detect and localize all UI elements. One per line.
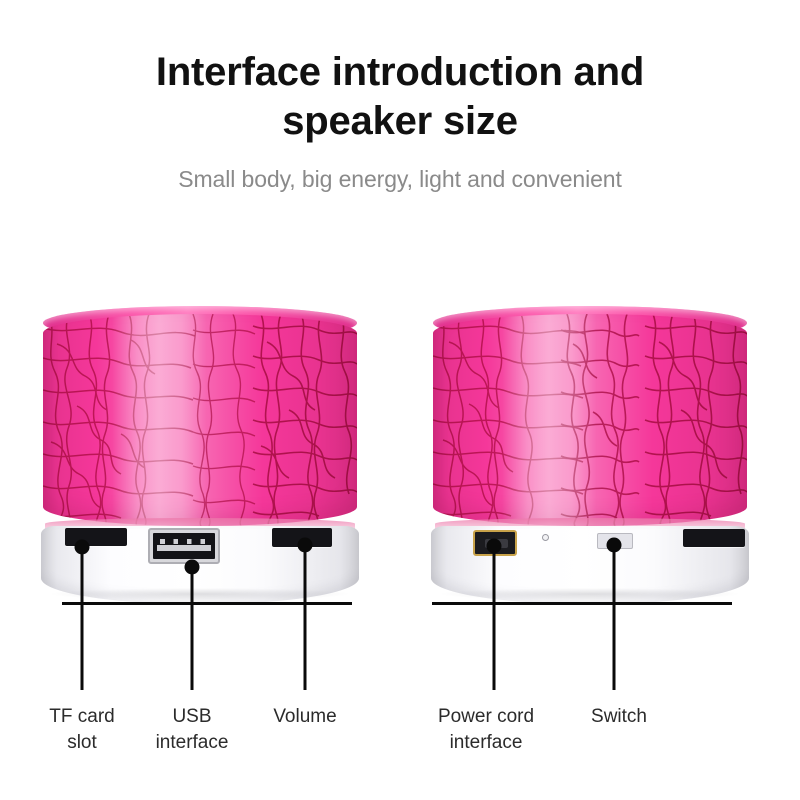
label-switch: Switch: [539, 704, 699, 730]
usb-port-cavity: [153, 533, 215, 559]
usb-interface-port[interactable]: [148, 528, 220, 564]
indicator-led: [542, 534, 549, 541]
base-width-line-right: [432, 602, 732, 605]
leader-line-usb-interface: [191, 567, 194, 690]
speaker-front-view: [35, 300, 365, 605]
leader-line-power-cord-interface: [493, 546, 496, 690]
speaker-rear-view: [425, 300, 755, 605]
speaker-base-shadow-right: [441, 588, 739, 600]
base-width-line-left: [62, 602, 352, 605]
speaker-grille-cylinder-left: [43, 314, 357, 526]
crackle-texture-right: [433, 314, 747, 526]
usb-port-pins: [160, 539, 207, 545]
leader-line-volume: [304, 545, 307, 690]
product-diagram: TF card slot USB interface Volume Power …: [0, 0, 800, 800]
leader-line-switch: [613, 545, 616, 690]
aux-slot-port[interactable]: [683, 529, 745, 547]
leader-line-tf-card-slot: [81, 547, 84, 690]
usb-port-contact-bar: [157, 545, 212, 551]
speaker-body-right: [425, 300, 755, 605]
speaker-body-left: [35, 300, 365, 605]
crackle-texture-left: [43, 314, 357, 526]
label-volume: Volume: [225, 704, 385, 730]
speaker-grille-cylinder-right: [433, 314, 747, 526]
